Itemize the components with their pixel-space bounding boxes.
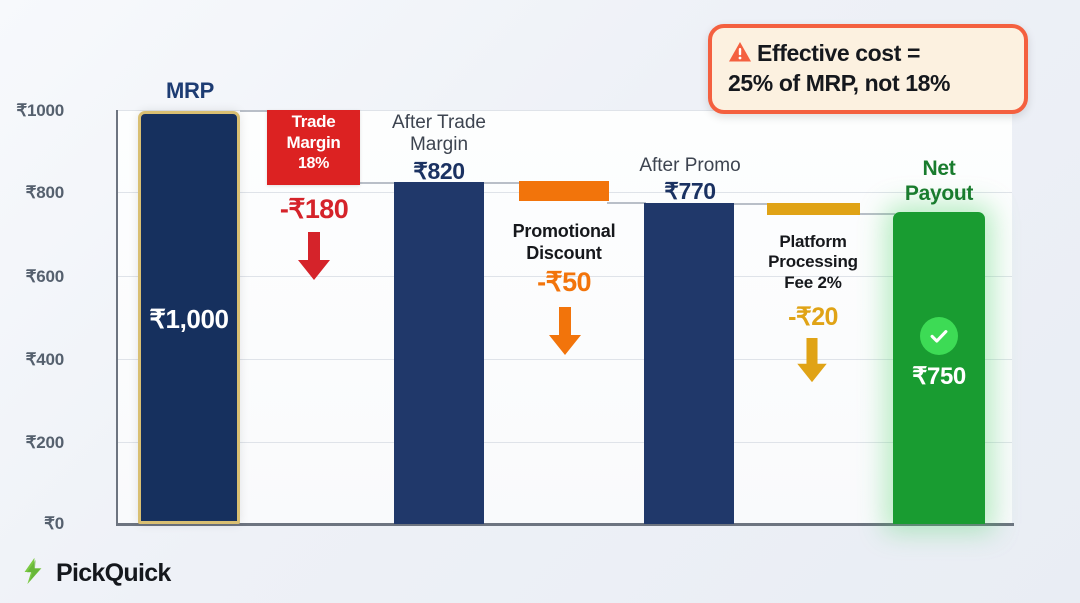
label-after-promo-line1: After Promo (639, 155, 740, 176)
value-net-payout: ₹750 (893, 362, 985, 391)
value-mrp: ₹1,000 (138, 304, 240, 335)
brand-name: PickQuick (56, 559, 171, 588)
label-after-trade-margin: After Trade Margin ₹820 (366, 112, 512, 185)
y-tick-200: ₹200 (0, 433, 64, 453)
check-circle-icon (920, 317, 958, 355)
connector-fee-to-net (858, 213, 895, 215)
trade-margin-tag-line2: Margin (267, 133, 360, 154)
bar-after-trade-margin[interactable] (394, 182, 484, 524)
warning-triangle-icon (728, 41, 752, 69)
label-after-trade-margin-line2: Margin (366, 134, 512, 156)
label-mrp: MRP (125, 78, 255, 104)
label-promotional-discount: Promotional Discount (489, 221, 639, 264)
callout-box: Effective cost = 25% of MRP, not 18% (708, 24, 1028, 114)
y-tick-400: ₹400 (0, 350, 64, 370)
label-after-promo: After Promo ₹770 (618, 155, 762, 206)
delta-platform-fee: -₹20 (757, 302, 869, 332)
label-platform-fee-line3: Fee 2% (752, 273, 874, 293)
label-net-payout: Net Payout (874, 157, 1004, 207)
bar-promotional-discount[interactable] (519, 181, 609, 201)
label-after-trade-margin-line1: After Trade (392, 112, 486, 133)
y-tick-600: ₹600 (0, 267, 64, 287)
y-tick-1000: ₹1000 (0, 101, 64, 121)
down-arrow-icon-trade-margin (296, 232, 332, 287)
gridline-200 (116, 442, 1012, 443)
label-net-payout-line1: Net (923, 157, 956, 180)
trade-margin-tag-percent: 18% (267, 154, 360, 174)
callout-text: Effective cost = 25% of MRP, not 18% (728, 39, 1008, 97)
delta-trade-margin: -₹180 (255, 194, 373, 225)
label-platform-fee-line2: Processing (752, 252, 874, 272)
label-platform-fee: Platform Processing Fee 2% (752, 232, 874, 293)
delta-promotional-discount: -₹50 (505, 267, 623, 298)
trade-margin-tag-label: Trade Margin 18% (267, 112, 360, 173)
infographic-canvas: ₹1000 ₹800 ₹600 ₹400 ₹200 ₹0 MRP After T… (0, 0, 1080, 603)
callout-line1: Effective cost = (757, 40, 920, 66)
label-net-payout-line2: Payout (874, 182, 1004, 207)
value-after-trade-margin: ₹820 (366, 158, 512, 185)
bar-platform-fee[interactable] (767, 203, 860, 215)
callout-line2: 25% of MRP, not 18% (728, 69, 1008, 97)
trade-margin-tag-line1: Trade (292, 112, 336, 131)
y-axis-line (116, 110, 118, 525)
value-after-promo: ₹770 (618, 178, 762, 205)
bar-after-promo[interactable] (644, 203, 734, 524)
label-platform-fee-line1: Platform (779, 232, 846, 251)
label-promotional-discount-line1: Promotional (513, 221, 616, 241)
connector-mrp-to-trade (240, 110, 270, 112)
x-axis-line (116, 523, 1014, 526)
y-tick-0: ₹0 (0, 514, 64, 534)
down-arrow-icon-platform-fee (795, 338, 829, 389)
lightning-bolt-icon (18, 556, 48, 591)
brand-logo: PickQuick (18, 556, 171, 591)
y-tick-800: ₹800 (0, 183, 64, 203)
down-arrow-icon-promotional-discount (547, 307, 583, 362)
label-promotional-discount-line2: Discount (489, 243, 639, 265)
